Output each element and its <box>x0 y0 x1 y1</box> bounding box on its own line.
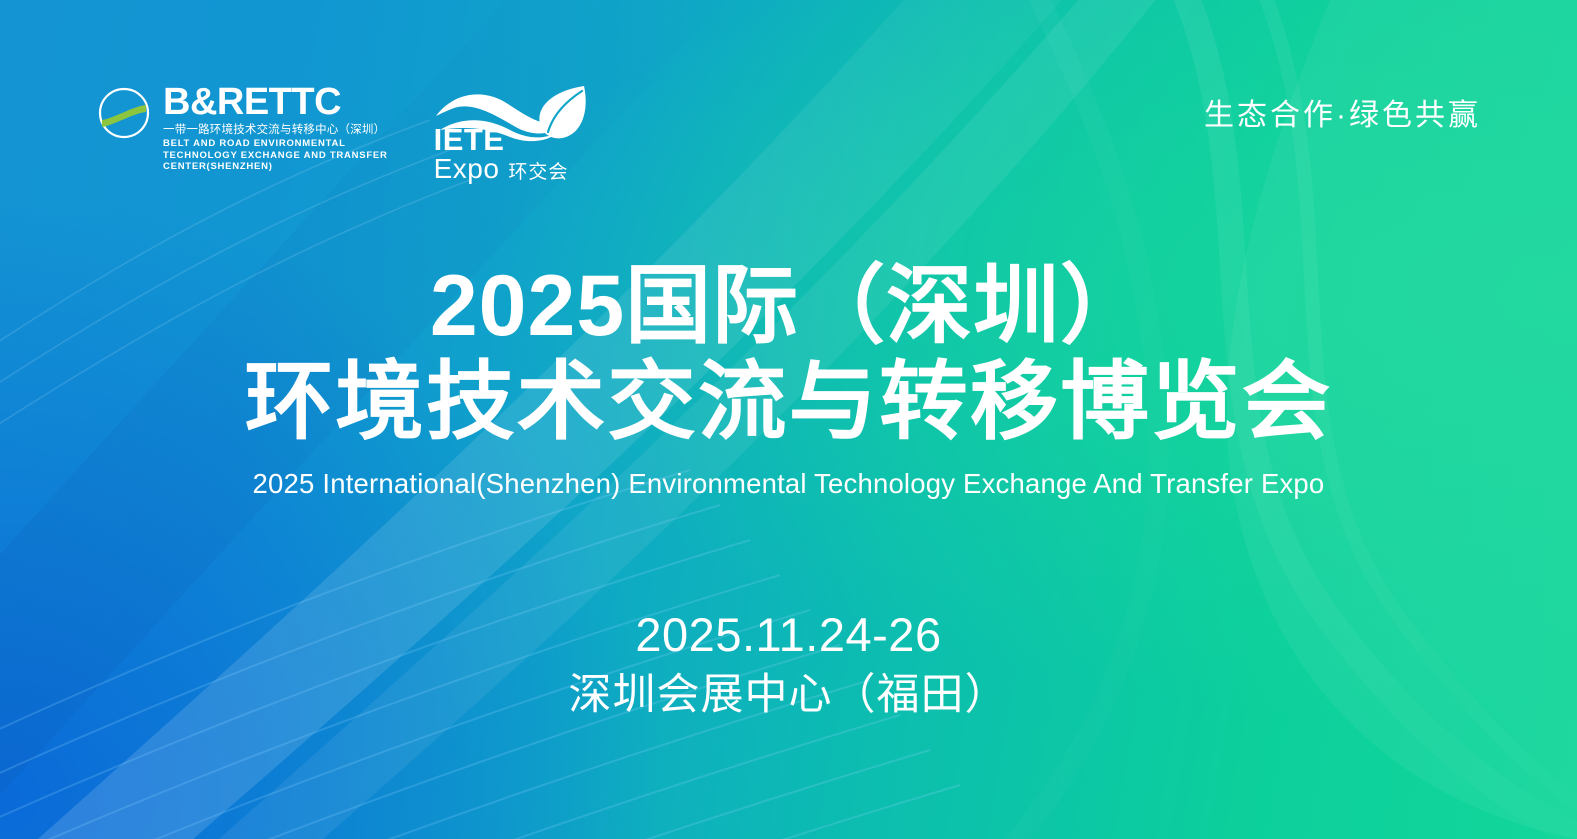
brettc-logo[interactable]: B&RETTC 一带一路环境技术交流与转移中心（深圳） BELT AND ROA… <box>96 82 388 173</box>
event-banner: B&RETTC 一带一路环境技术交流与转移中心（深圳） BELT AND ROA… <box>0 0 1577 839</box>
iete-line1: IETE <box>434 124 505 155</box>
logo-bar: B&RETTC 一带一路环境技术交流与转移中心（深圳） BELT AND ROA… <box>0 82 1577 186</box>
logo-group: B&RETTC 一带一路环境技术交流与转移中心（深圳） BELT AND ROA… <box>96 82 592 186</box>
event-date: 2025.11.24-26 <box>0 604 1577 666</box>
iete-line2-row: Expo 环交会 <box>434 155 569 183</box>
brettc-english-line-1: BELT AND ROAD ENVIRONMENTAL <box>163 138 388 150</box>
iete-line2: Expo <box>434 155 500 183</box>
hero-block: 2025国际（深圳） 环境技术交流与转移博览会 2025 Internation… <box>0 258 1577 502</box>
brettc-textblock: B&RETTC 一带一路环境技术交流与转移中心（深圳） BELT AND ROA… <box>163 82 388 173</box>
brettc-wordmark: B&RETTC <box>163 82 388 122</box>
brettc-english-line-3: CENTER(SHENZHEN) <box>163 161 388 173</box>
event-venue: 深圳会展中心（福田） <box>0 666 1577 724</box>
event-meta: 2025.11.24-26 深圳会展中心（福田） <box>0 604 1577 724</box>
iete-chinese-name: 环交会 <box>508 163 568 182</box>
page-title-line-1: 2025国际（深圳） <box>0 258 1577 354</box>
iete-expo-logo[interactable]: IETE Expo 环交会 <box>432 82 592 186</box>
brettc-chinese-name: 一带一路环境技术交流与转移中心（深圳） <box>163 123 388 138</box>
brettc-english-line-2: TECHNOLOGY EXCHANGE AND TRANSFER <box>163 150 388 162</box>
event-slogan: 生态合作·绿色共赢 <box>1204 96 1481 136</box>
globe-circle-icon <box>96 85 152 141</box>
page-subtitle-english: 2025 International(Shenzhen) Environment… <box>0 466 1577 502</box>
page-title-line-2: 环境技术交流与转移博览会 <box>0 354 1577 450</box>
